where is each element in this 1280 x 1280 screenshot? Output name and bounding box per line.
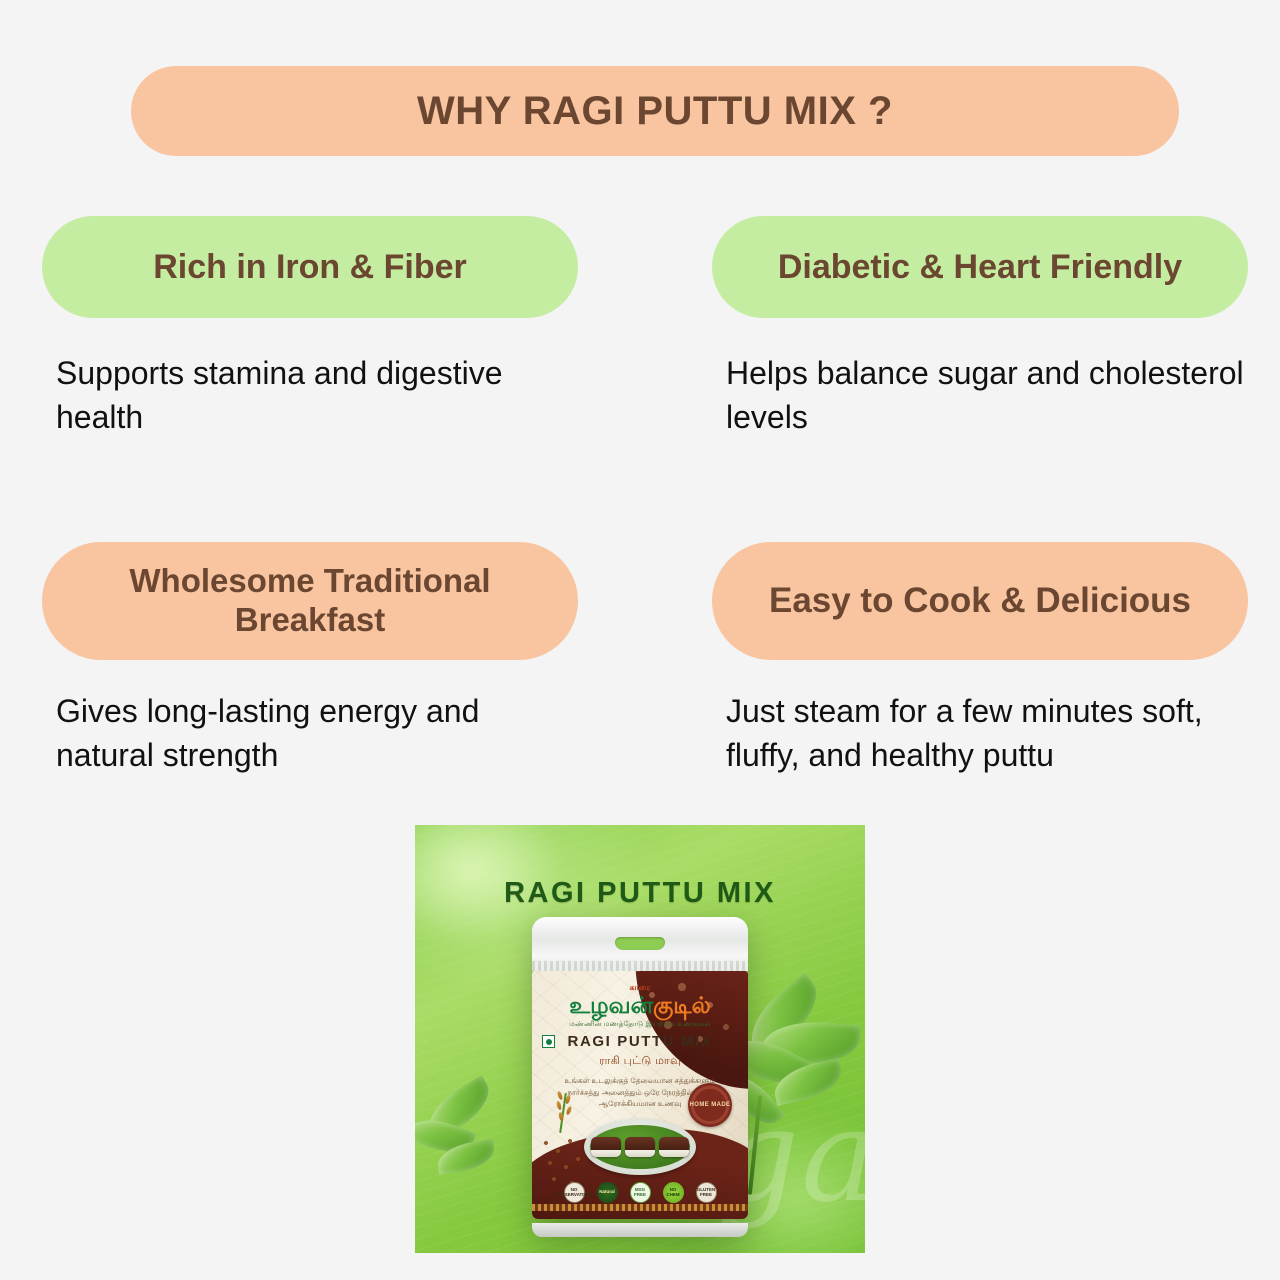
certification-label-3: MSG FREE bbox=[631, 1188, 650, 1197]
feature-pill-4: Easy to Cook & Delicious bbox=[712, 542, 1248, 660]
package-bottom-border-pattern bbox=[532, 1204, 748, 1211]
puttu-roll bbox=[625, 1137, 655, 1157]
brand-name: உழவன்குடில் bbox=[555, 994, 725, 1017]
feature-rich-in-iron-and-fiber: Rich in Iron & Fiber Supports stamina an… bbox=[42, 216, 578, 439]
grain-icon bbox=[556, 1101, 562, 1111]
certification-label-4: NO CHEM bbox=[663, 1188, 684, 1197]
brand-name-part2: குடில் bbox=[653, 992, 711, 1018]
package-front-face: காரை உழவன்குடில் மண்ணின் மணத்தோடு இயற்கை… bbox=[532, 971, 748, 1219]
puttu-serving-plate bbox=[584, 1119, 696, 1175]
feature-pill-label-4: Easy to Cook & Delicious bbox=[769, 580, 1191, 621]
feature-description-3: Gives long-lasting energy and natural st… bbox=[56, 690, 578, 777]
feature-description-2: Helps balance sugar and cholesterol leve… bbox=[726, 352, 1248, 439]
feature-wholesome-traditional-breakfast: Wholesome Traditional Breakfast Gives lo… bbox=[42, 542, 578, 777]
feature-pill-1: Rich in Iron & Fiber bbox=[42, 216, 578, 318]
certification-label-5: GLUTEN FREE bbox=[697, 1188, 716, 1197]
feature-description-1: Supports stamina and digestive health bbox=[56, 352, 578, 439]
page-title: WHY RAGI PUTTU MIX ? bbox=[417, 89, 893, 134]
puttu-rolls bbox=[591, 1137, 689, 1157]
feature-diabetic-and-heart-friendly: Diabetic & Heart Friendly Helps balance … bbox=[712, 216, 1248, 439]
page-title-banner: WHY RAGI PUTTU MIX ? bbox=[131, 66, 1179, 156]
promo-infographic-page: WHY RAGI PUTTU MIX ? Rich in Iron & Fibe… bbox=[0, 0, 1280, 1280]
feature-easy-to-cook-and-delicious: Easy to Cook & Delicious Just steam for … bbox=[712, 542, 1248, 777]
package-product-name-tamil: ராகி புட்டு மாவு bbox=[532, 1055, 748, 1069]
package-hang-hole bbox=[615, 937, 665, 950]
certification-no-chemicals-icon: NO CHEM bbox=[663, 1182, 684, 1203]
puttu-roll bbox=[591, 1137, 621, 1157]
ragi-sprig-icon bbox=[548, 1089, 582, 1133]
brand-name-part1: உழவன் bbox=[569, 992, 653, 1018]
certification-no-preservatives-icon: NO PRESERVATIVES bbox=[564, 1182, 585, 1203]
home-made-seal-badge: HOME MADE bbox=[688, 1083, 732, 1127]
feature-pill-label-1: Rich in Iron & Fiber bbox=[153, 247, 467, 287]
certification-badges: NO PRESERVATIVES Natural MSG FREE NO CHE… bbox=[532, 1182, 748, 1203]
feature-description-4: Just steam for a few minutes soft, fluff… bbox=[726, 690, 1248, 777]
certification-label-1: NO PRESERVATIVES bbox=[556, 1188, 593, 1197]
feature-pill-label-3: Wholesome Traditional Breakfast bbox=[62, 562, 558, 640]
home-made-seal-label: HOME MADE bbox=[690, 1102, 731, 1109]
brand-logo: காரை உழவன்குடில் மண்ணின் மணத்தோடு இயற்கை… bbox=[555, 983, 725, 1029]
puttu-roll bbox=[659, 1137, 689, 1157]
certification-msg-free-icon: MSG FREE bbox=[630, 1182, 651, 1203]
product-image: Organic RAGI PUTTU MIX bbox=[415, 825, 865, 1253]
certification-gluten-free-icon: GLUTEN FREE bbox=[696, 1182, 717, 1203]
package-zip-seal bbox=[532, 961, 748, 971]
feature-pill-label-2: Diabetic & Heart Friendly bbox=[778, 247, 1182, 287]
certification-label-2: Natural bbox=[599, 1190, 615, 1195]
product-image-title: RAGI PUTTU MIX bbox=[415, 877, 865, 910]
certification-natural-icon: Natural bbox=[597, 1182, 618, 1203]
feature-pill-3: Wholesome Traditional Breakfast bbox=[42, 542, 578, 660]
brand-tagline: மண்ணின் மணத்தோடு இயற்கை உணவுகள் bbox=[555, 1020, 725, 1029]
grain-icon bbox=[557, 1091, 564, 1101]
package-product-name: RAGI PUTTU MIX bbox=[532, 1033, 748, 1050]
grain-icon bbox=[565, 1106, 572, 1116]
feature-pill-2: Diabetic & Heart Friendly bbox=[712, 216, 1248, 318]
product-package: காரை உழவன்குடில் மண்ணின் மணத்தோடு இயற்கை… bbox=[532, 917, 748, 1229]
package-bottom-gusset bbox=[532, 1223, 748, 1237]
basil-leaf-cluster-left-icon bbox=[415, 1085, 523, 1215]
